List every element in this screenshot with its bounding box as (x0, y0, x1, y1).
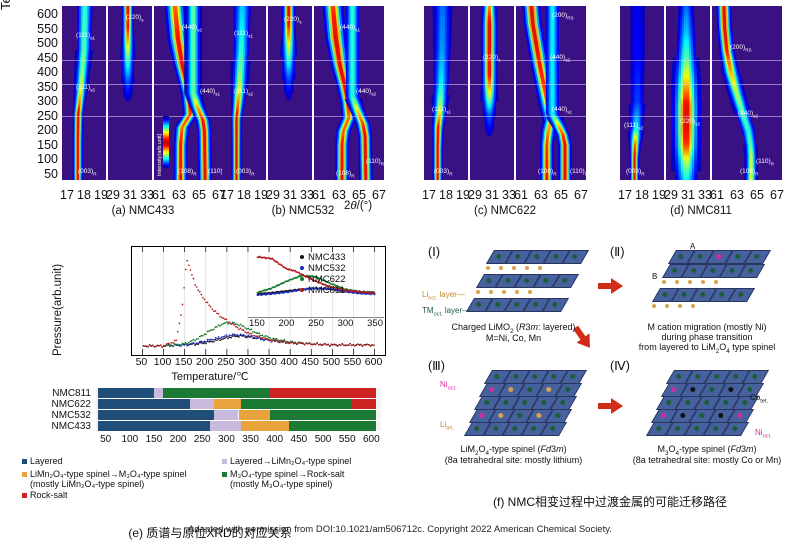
xrd-y-tick: 100 (20, 153, 58, 166)
tm-atom-icon (735, 254, 740, 259)
phase-legend-label: Layered (30, 456, 63, 466)
tm-atom-icon (496, 254, 501, 259)
tm-atom-icon (747, 387, 752, 392)
xrd-x-tick: 67 (769, 188, 785, 202)
tm-atom-icon (552, 302, 557, 307)
gridline (712, 84, 782, 85)
tm-atom-icon (489, 387, 494, 392)
tm-atom-icon (515, 254, 520, 259)
tm-atom-icon (742, 400, 747, 405)
lattice-slab (655, 409, 750, 423)
lattice-slab (672, 250, 767, 264)
schematic-step-2-label: (Ⅱ) (610, 244, 624, 259)
gridline (268, 84, 312, 85)
xrd-peak-label: (440)s1 (552, 106, 572, 114)
tm-atom-icon (531, 426, 536, 431)
bar-segment (214, 410, 238, 420)
tm-atom-icon (685, 400, 690, 405)
tm-atom-icon (505, 278, 510, 283)
bar-x-tick: 150 (142, 434, 166, 445)
bar-x-tick: 250 (190, 434, 214, 445)
phase-legend-label: LiMn₂O₄-type spinel→M₃O₄-type spinel (30, 469, 187, 479)
schematic-caption: during phase transition (616, 332, 798, 342)
ms-legend-label: NMC811 (308, 285, 345, 296)
xrd-panel-caption: (c) NMC622 (424, 205, 586, 217)
bar-segment (154, 388, 163, 398)
xrd-y-tick: 200 (20, 124, 58, 137)
xrd-x-tick: 63 (171, 188, 187, 202)
bar-segment (98, 388, 154, 398)
gridline (666, 84, 710, 85)
tm-atom-icon (560, 400, 565, 405)
schematic-panel: (Ⅰ)(Ⅱ)(Ⅲ)(Ⅳ)Lioct. layer—TMoct. layer—AB… (420, 238, 800, 543)
phase-legend-item: LiMn₂O₄-type spinel→M₃O₄-type spinel(mos… (22, 469, 187, 489)
xrd-panel-4-segment-2 (666, 6, 710, 180)
xrd-x-tick: 18 (236, 188, 252, 202)
tm-atom-icon (543, 278, 548, 283)
tm-atom-icon (752, 374, 757, 379)
bar-segment (241, 421, 289, 431)
tm-atom-icon (729, 268, 734, 273)
phase-legend-label: Layered→LiMn₂O₄-type spinel (230, 456, 351, 466)
ms-inset-x-tick: 350 (364, 318, 386, 329)
tm-atom-icon (533, 302, 538, 307)
lattice-slab (666, 264, 761, 278)
li-atom-icon (662, 280, 666, 284)
xrd-x-tick: 65 (749, 188, 765, 202)
phase-legend-sublabel: (mostly LiMn₂O₄-type spinel) (30, 479, 144, 489)
li-atom-icon (499, 266, 503, 270)
xrd-peak-label: (108)R (740, 168, 759, 176)
tm-atom-icon (723, 400, 728, 405)
bar-row-label: NMC532 (25, 410, 91, 421)
bar-x-tick: 200 (166, 434, 190, 445)
tm-atom-icon (565, 387, 570, 392)
tm-atom-icon (562, 278, 567, 283)
tm-atom-icon (551, 374, 556, 379)
schematic-step-4-label: (Ⅳ) (610, 358, 630, 373)
gridline (712, 60, 782, 61)
ms-legend-item: NMC622 (300, 274, 346, 285)
tm-atom-icon (517, 413, 522, 418)
xrd-panel-4: 17181929313361636567(200)RS(220)s2(440)s… (620, 6, 782, 180)
lattice-slab (665, 383, 760, 397)
xrd-peak-label: (220)s (483, 54, 500, 62)
xrd-peak-label: (200)RS (552, 12, 574, 20)
xrd-peak-label: (003)R (78, 168, 97, 176)
xrd-panel-1-segment-2 (108, 6, 152, 180)
xrd-peak-label: (220)s (126, 14, 143, 22)
tm-atom-icon (681, 292, 686, 297)
tm-atom-icon (495, 302, 500, 307)
ms-legend-swatch (300, 266, 304, 270)
schematic-caption: (8a tetrahedral site: mostly Co or Mn) (616, 455, 798, 465)
tm-atom-icon (694, 426, 699, 431)
xrd-panel-4-segment-3 (712, 6, 782, 180)
xrd-x-tick: 18 (438, 188, 454, 202)
lattice-slab (660, 396, 755, 410)
gridline (470, 84, 514, 85)
ms-legend-label: NMC433 (308, 252, 346, 263)
tm-atom-icon (541, 400, 546, 405)
li-atom-icon (675, 280, 679, 284)
xrd-x-tick: 29 (467, 188, 483, 202)
xrd-x-tick: 67 (573, 188, 589, 202)
xrd-peak-label: (111)s1 (432, 106, 451, 114)
tm-atom-icon (719, 292, 724, 297)
ms-y-axis-label: Pressure(arb.unit) (52, 216, 64, 356)
tm-atom-icon (748, 268, 753, 273)
xrd-peak-label: (440)s2 (550, 54, 570, 62)
xrd-y-tick: 300 (20, 95, 58, 108)
flow-arrow-icon (598, 278, 624, 294)
xrd-x-tick: 31 (680, 188, 696, 202)
phase-bar-chart: NMC811NMC622NMC532NMC4335010015020025030… (0, 388, 420, 446)
xrd-panel-3: 17181929313361636567(200)RS(220)s(440)s2… (424, 6, 586, 180)
xrd-x-tick: 61 (311, 188, 327, 202)
tm-atom-icon (676, 374, 681, 379)
ms-x-axis-title: Temperature/℃ (0, 370, 420, 383)
xrd-x-tick: 17 (219, 188, 235, 202)
lattice-slab (473, 409, 568, 423)
bar-segment (163, 388, 270, 398)
xrd-peak-label: (440)s1 (340, 24, 360, 32)
xrd-panel-caption: (a) NMC433 (62, 205, 224, 217)
phase-legend-label: M₃O₄-type spinel→Rock-salt (230, 469, 344, 479)
tm-atom-icon (699, 413, 704, 418)
xrd-peak-label: (111)s2 (76, 84, 95, 92)
xrd-x-tick: 18 (76, 188, 92, 202)
xrd-heatmap-row: Temperature/℃ 60055050045040035030025020… (0, 0, 800, 228)
bar-x-tick: 500 (311, 434, 335, 445)
xrd-y-tick: 400 (20, 66, 58, 79)
gridline (108, 60, 152, 61)
tm-atom-icon (572, 254, 577, 259)
tm-atom-icon (512, 426, 517, 431)
tm-atom-icon (666, 400, 671, 405)
tm-atom-icon (713, 426, 718, 431)
schematic-step-1-label: (Ⅰ) (428, 244, 440, 259)
tm-atom-icon (656, 426, 661, 431)
xrd-peak-label: (110)R (366, 158, 384, 166)
figure-credit: Adapted with permission from DOI:10.1021… (0, 524, 800, 535)
ms-x-tick: 600 (362, 356, 386, 368)
tm-atom-icon (474, 426, 479, 431)
bar-row (96, 388, 381, 398)
ms-legend-label: NMC532 (308, 263, 346, 274)
lattice-slab (650, 422, 745, 436)
tm-atom-icon (728, 387, 733, 392)
xrd-peak-label: (440)s2 (738, 110, 758, 118)
ms-plot-area: 150200250300350 NMC433NMC532NMC622NMC811 (131, 246, 386, 356)
xrd-x-tick: 31 (484, 188, 500, 202)
schematic-atom-tag: Litet. (440, 420, 454, 432)
xrd-x-tick: 18 (634, 188, 650, 202)
xrd-x-tick: 63 (533, 188, 549, 202)
tm-atom-icon (514, 302, 519, 307)
xrd-panel-3-segment-1 (424, 6, 468, 180)
tm-atom-icon (754, 254, 759, 259)
bar-x-tick: 350 (239, 434, 263, 445)
tm-atom-icon (524, 278, 529, 283)
gridline (470, 116, 514, 117)
gridline (62, 116, 106, 117)
ms-inset-x-tick: 150 (246, 318, 268, 329)
tm-atom-icon (671, 387, 676, 392)
xrd-x-tick: 65 (553, 188, 569, 202)
bar-segment (352, 399, 376, 409)
tm-atom-icon (498, 413, 503, 418)
tm-atom-icon (555, 413, 560, 418)
ms-inset-x-tick: 250 (305, 318, 327, 329)
tm-atom-icon (522, 400, 527, 405)
phase-legend-swatch (22, 472, 27, 477)
xrd-x-tick: 29 (105, 188, 121, 202)
tm-atom-icon (691, 268, 696, 273)
bar-segment (270, 410, 376, 420)
lattice-slab (490, 250, 585, 264)
li-atom-icon (678, 304, 682, 308)
schematic-caption: from layered to LiM2O4 type spinel (616, 342, 798, 355)
bar-row (96, 421, 381, 431)
li-atom-icon (665, 304, 669, 308)
tm-atom-icon (486, 278, 491, 283)
gridline (424, 116, 468, 117)
xrd-panel-caption: (d) NMC811 (620, 205, 782, 217)
li-atom-icon (691, 304, 695, 308)
lattice-slab (480, 274, 575, 288)
schematic-atom-tag: Nioct. (440, 380, 457, 392)
xrd-y-tick: 350 (20, 81, 58, 94)
gridline (620, 116, 664, 117)
tm-atom-icon (661, 413, 666, 418)
tm-atom-icon (503, 400, 508, 405)
tm-atom-icon (532, 374, 537, 379)
gridline (424, 84, 468, 85)
li-atom-icon (476, 290, 480, 294)
tm-atom-icon (678, 254, 683, 259)
gridline (108, 116, 152, 117)
tm-atom-icon (536, 413, 541, 418)
phase-legend-label: Rock-salt (30, 490, 68, 500)
xrd-y-tick: 550 (20, 23, 58, 36)
bar-segment (289, 421, 376, 431)
tm-atom-icon (732, 426, 737, 431)
li-atom-icon (489, 290, 493, 294)
lattice-slab (468, 422, 563, 436)
li-atom-icon (502, 290, 506, 294)
tm-atom-icon (714, 374, 719, 379)
tm-atom-icon (476, 302, 481, 307)
gridline (108, 84, 152, 85)
tm-atom-icon (680, 413, 685, 418)
gridline (516, 116, 586, 117)
xrd-panel-3-segment-2 (470, 6, 514, 180)
tm-atom-icon (553, 254, 558, 259)
xrd-peak-label: (108)R (538, 168, 557, 176)
xrd-peak-label: (440)s1 (200, 88, 220, 96)
xrd-peak-label: (220)s (284, 16, 301, 24)
tm-atom-icon (672, 268, 677, 273)
gridline (222, 116, 266, 117)
bar-segment (241, 399, 352, 409)
tm-atom-icon (709, 387, 714, 392)
tm-atom-icon (534, 254, 539, 259)
bar-x-tick: 50 (94, 434, 118, 445)
xrd-peak-label: (108)R (336, 170, 355, 178)
xrd-x-tick: 29 (663, 188, 679, 202)
gridline (314, 116, 384, 117)
xrd-x-tick: 17 (59, 188, 75, 202)
ms-legend-swatch (300, 288, 304, 292)
tm-atom-icon (479, 413, 484, 418)
phase-legend-item: Layered→LiMn₂O₄-type spinel (222, 456, 351, 466)
tm-atom-icon (494, 374, 499, 379)
xrd-peak-label: (220)s2 (680, 118, 700, 126)
xrd-panel-2-segment-2 (268, 6, 312, 180)
bar-segment (214, 399, 241, 409)
li-layer-atoms (652, 304, 695, 308)
li-atom-icon (528, 290, 532, 294)
xrd-x-tick: 31 (282, 188, 298, 202)
bar-segment (98, 410, 214, 420)
bar-row-label: NMC811 (25, 388, 91, 399)
bar-segment (210, 421, 241, 431)
schematic-atom-tag: Lioct. layer— (422, 290, 465, 302)
lattice-slab (478, 396, 573, 410)
schematic-atom-tag: Cotet. (750, 393, 768, 405)
li-atom-icon (512, 266, 516, 270)
gridline (424, 60, 468, 61)
lattice-slab (656, 288, 751, 302)
gridline (62, 60, 106, 61)
bar-segment (190, 399, 214, 409)
gridline (314, 84, 384, 85)
xrd-peak-label: (108)R (178, 168, 197, 176)
gridline (268, 116, 312, 117)
xrd-peak-label: (110)R (570, 168, 588, 176)
gridline (222, 60, 266, 61)
lattice-slab (483, 383, 578, 397)
xrd-x-tick: 67 (371, 188, 387, 202)
schematic-caption: (8a tetrahedral site: mostly lithium) (426, 455, 601, 465)
li-atom-icon (688, 280, 692, 284)
xrd-x-tick: 61 (151, 188, 167, 202)
xrd-x-tick: 17 (617, 188, 633, 202)
ms-legend-swatch (300, 277, 304, 281)
tm-atom-icon (690, 387, 695, 392)
xrd-x-tick: 29 (265, 188, 281, 202)
li-layer-atoms (486, 266, 542, 270)
tm-atom-icon (508, 387, 513, 392)
gridline (154, 84, 224, 85)
xrd-x-tick: 65 (191, 188, 207, 202)
intensity-colorbar (163, 116, 169, 168)
bar-x-tick: 300 (214, 434, 238, 445)
bar-x-tick: 450 (287, 434, 311, 445)
gridline (666, 60, 710, 61)
li-atom-icon (701, 280, 705, 284)
xrd-x-tick: 17 (421, 188, 437, 202)
bar-row (96, 410, 381, 420)
gridline (314, 60, 384, 61)
xrd-x-tick: 31 (122, 188, 138, 202)
tm-atom-icon (570, 374, 575, 379)
xrd-peak-label: (111)s1 (76, 32, 95, 40)
bar-segment (98, 421, 209, 431)
bar-x-tick: 550 (335, 434, 359, 445)
xrd-peak-label: (110)R (756, 158, 774, 166)
li-atom-icon (525, 266, 529, 270)
gridline (666, 116, 710, 117)
lattice-slab (670, 370, 765, 384)
xrd-peak-label: (440)s2 (182, 24, 202, 32)
xrd-x-tick: 61 (513, 188, 529, 202)
bar-x-tick: 400 (263, 434, 287, 445)
phase-legend-item: M₃O₄-type spinel→Rock-salt(mostly M₃O₄-t… (222, 469, 344, 489)
schematic-atom-tag: Nioct. (755, 428, 772, 440)
schematic-atom-tag: B (652, 272, 657, 281)
ms-legend-item: NMC532 (300, 263, 346, 274)
li-layer-atoms (476, 290, 532, 294)
gridline (620, 84, 664, 85)
phase-legend-swatch (22, 459, 27, 464)
phase-legend-item: Rock-salt (22, 490, 68, 500)
xrd-y-axis-label: Temperature/℃ (0, 0, 14, 10)
bar-row-label: NMC622 (25, 399, 91, 410)
tm-atom-icon (695, 374, 700, 379)
xrd-peak-label: (003)R (236, 168, 255, 176)
li-atom-icon (486, 266, 490, 270)
xrd-peak-label: (200)RS (730, 44, 752, 52)
flow-arrow-icon (598, 398, 624, 414)
xrd-peak-label: (003)R (434, 168, 453, 176)
tm-atom-icon (527, 387, 532, 392)
xrd-panel-3-segment-3 (516, 6, 586, 180)
xrd-peak-label: (440)s2 (356, 88, 376, 96)
tm-atom-icon (710, 268, 715, 273)
xrd-x-tick: 63 (729, 188, 745, 202)
lattice-slab (488, 370, 583, 384)
xrd-x-axis-title: 2θ/(°) (344, 200, 372, 212)
xrd-peak-label: (111)s2 (234, 88, 253, 96)
lattice-slab (470, 298, 565, 312)
schematic-caption: M=Ni, Co, Mn (426, 333, 601, 343)
xrd-panel-4-segment-1 (620, 6, 664, 180)
xrd-panel-1: 17181929313361636567(111)s1(111)s2(003)R… (62, 6, 224, 180)
xrd-y-tick: 150 (20, 139, 58, 152)
phase-legend-sublabel: (mostly M₃O₄-type spinel) (230, 479, 332, 489)
li-atom-icon (714, 280, 718, 284)
li-layer-atoms (662, 280, 718, 284)
ms-inset-x-tick: 200 (275, 318, 297, 329)
schematic-atom-tag: A (690, 242, 695, 251)
tm-atom-icon (513, 374, 518, 379)
bar-segment (98, 399, 190, 409)
ms-legend-item: NMC811 (300, 285, 345, 296)
xrd-peak-label: (111)s2 (624, 122, 643, 130)
bar-row (96, 399, 381, 409)
bar-x-tick: 100 (118, 434, 142, 445)
tm-atom-icon (716, 254, 721, 259)
mass-spec-panel: Pressure(arb.unit) 150200250300350 NMC43… (0, 236, 420, 546)
xrd-y-tick: 450 (20, 52, 58, 65)
phase-legend: LayeredLiMn₂O₄-type spinel→M₃O₄-type spi… (0, 454, 420, 516)
bar-segment (270, 388, 376, 398)
ms-legend-item: NMC433 (300, 252, 346, 263)
gridline (516, 84, 586, 85)
bar-x-tick: 600 (359, 434, 383, 445)
